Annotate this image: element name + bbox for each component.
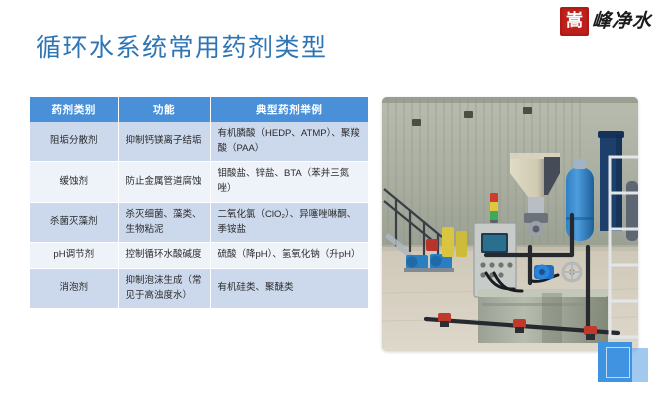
cell-function: 抑制钙镁离子结垢 <box>118 122 210 162</box>
cell-function: 杀灭细菌、藻类、生物粘泥 <box>118 202 210 242</box>
table-row: 阻垢分散剂 抑制钙镁离子结垢 有机膦酸（HEDP、ATMP）、聚羧酸（PAA） <box>30 122 368 162</box>
page-title: 循环水系统常用药剂类型 <box>36 33 328 63</box>
cell-examples: 硫酸（降pH）、氢氧化钠（升pH） <box>210 243 368 269</box>
cell-category: 消泡剂 <box>30 269 118 309</box>
decorative-squares <box>596 342 648 388</box>
cell-examples: 钼酸盐、锌盐、BTA（苯并三氮唑） <box>210 162 368 202</box>
cell-function: 防止金属管道腐蚀 <box>118 162 210 202</box>
equipment-photo-illustration <box>382 97 638 351</box>
cell-function: 控制循环水酸碱度 <box>118 243 210 269</box>
cell-examples: 有机膦酸（HEDP、ATMP）、聚羧酸（PAA） <box>210 122 368 162</box>
decorative-square-inner <box>606 347 630 378</box>
cell-category: 缓蚀剂 <box>30 162 118 202</box>
table-row: 缓蚀剂 防止金属管道腐蚀 钼酸盐、锌盐、BTA（苯并三氮唑） <box>30 162 368 202</box>
logo-seal-icon: 嵩 <box>560 7 589 36</box>
table-row: pH调节剂 控制循环水酸碱度 硫酸（降pH）、氢氧化钠（升pH） <box>30 243 368 269</box>
chemical-types-table: 药剂类别 功能 典型药剂举例 阻垢分散剂 抑制钙镁离子结垢 有机膦酸（HEDP、… <box>30 97 368 309</box>
equipment-photo <box>382 97 638 351</box>
table-header-row: 药剂类别 功能 典型药剂举例 <box>30 97 368 122</box>
column-header-examples: 典型药剂举例 <box>210 97 368 122</box>
column-header-function: 功能 <box>118 97 210 122</box>
cell-examples: 二氧化氯（ClO₂）、异噻唑啉酮、季铵盐 <box>210 202 368 242</box>
cell-category: 杀菌灭藻剂 <box>30 202 118 242</box>
logo-text: 峰净水 <box>591 12 652 31</box>
decorative-square-front <box>598 342 632 382</box>
company-logo: 嵩 峰净水 <box>560 6 652 36</box>
column-header-category: 药剂类别 <box>30 97 118 122</box>
cell-function: 抑制泡沫生成（常见于高浊度水） <box>118 269 210 309</box>
slide: 嵩 峰净水 循环水系统常用药剂类型 药剂类别 功能 典型药剂举例 阻垢分散剂 抑… <box>0 0 660 400</box>
table-row: 杀菌灭藻剂 杀灭细菌、藻类、生物粘泥 二氧化氯（ClO₂）、异噻唑啉酮、季铵盐 <box>30 202 368 242</box>
table-row: 消泡剂 抑制泡沫生成（常见于高浊度水） 有机硅类、聚醚类 <box>30 269 368 309</box>
cell-examples: 有机硅类、聚醚类 <box>210 269 368 309</box>
cell-category: pH调节剂 <box>30 243 118 269</box>
cell-category: 阻垢分散剂 <box>30 122 118 162</box>
